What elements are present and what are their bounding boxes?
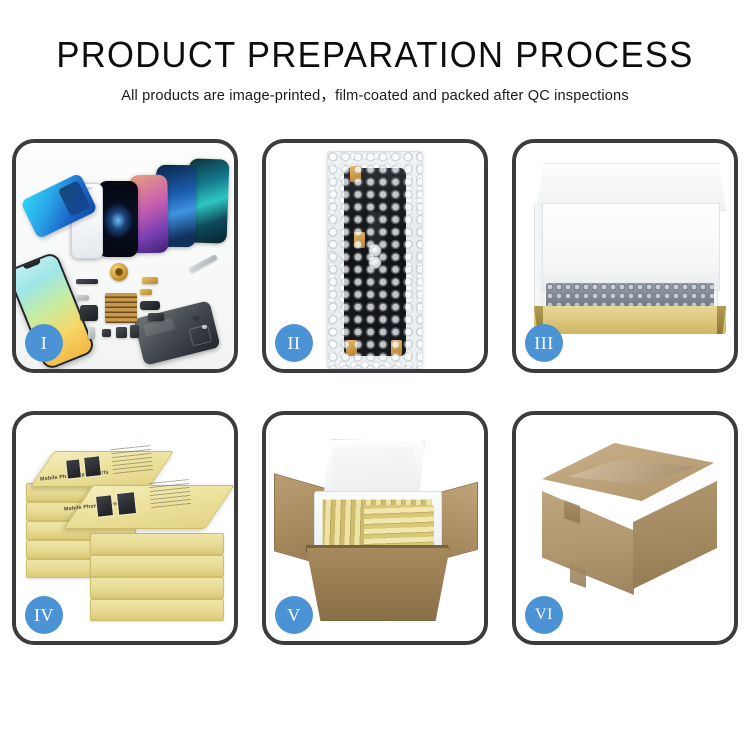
- step-badge-3: III: [525, 324, 563, 362]
- step-badge-1: I: [25, 324, 63, 362]
- process-step-panel-3[interactable]: III Bubble-wrapped units placed inside a…: [512, 139, 738, 373]
- process-step-grid: I Mobile phone screens, back glass and a…: [12, 139, 738, 685]
- part-strip-icon: [76, 279, 98, 284]
- step-badge-5: V: [275, 596, 313, 634]
- carton-body-icon: [306, 547, 450, 621]
- screen-flex-cable-icon: [369, 212, 382, 336]
- tape-tab-mid-icon: [354, 232, 365, 248]
- yellow-boxes-row-2-icon: [364, 505, 434, 549]
- camera-module-icon: [116, 327, 127, 338]
- page-title: PRODUCT PREPARATION PROCESS: [15, 36, 735, 75]
- screw-icon: [192, 315, 199, 319]
- retail-box-edge: [90, 577, 224, 599]
- process-step-panel-4[interactable]: Mobile Phone Spare Parts Mobile Phone Sp…: [12, 411, 238, 645]
- box-window-right-icon: [83, 455, 102, 478]
- bracket-icon: [75, 295, 89, 300]
- vibrator-motor-icon: [130, 325, 139, 338]
- process-step-panel-2[interactable]: II Individual LCD screen assembly sealed…: [262, 139, 488, 373]
- flex-cable-icon: [80, 305, 98, 321]
- product-preparation-process-page: PRODUCT PREPARATION PROCESS All products…: [0, 0, 750, 750]
- process-step-panel-6[interactable]: VI Sealed and taped outer cardboard ship…: [512, 411, 738, 645]
- process-step-panel-5[interactable]: V Yellow boxes loaded into a foam-lined …: [262, 411, 488, 645]
- box-window-right-icon: [116, 491, 137, 516]
- box-spec-lines-icon: [149, 479, 191, 509]
- bubble-wrap-bag-icon: [327, 151, 423, 369]
- tape-tab-bottom-right-icon: [391, 340, 402, 356]
- box-window-left-icon: [95, 494, 114, 518]
- tape-tab-bottom-left-icon: [346, 340, 357, 356]
- box-window-left-icon: [65, 458, 82, 479]
- ic-chip-icon: [148, 313, 164, 321]
- step-badge-6: VI: [525, 596, 563, 634]
- ribbon-cable-icon: [140, 301, 160, 310]
- gold-connector-icon: [142, 277, 158, 284]
- speaker-coil-icon: [110, 263, 128, 281]
- sim-tray-icon: [88, 327, 95, 339]
- step-badge-4: IV: [25, 596, 63, 634]
- retail-box-edge: [90, 533, 224, 555]
- retail-box-edge: [90, 555, 224, 577]
- tape-tab-top-icon: [350, 166, 361, 182]
- step-badge-2: II: [275, 324, 313, 362]
- button-part-icon: [102, 329, 111, 337]
- retail-box-edge: [90, 599, 224, 621]
- box-front-yellow-icon: [534, 306, 726, 334]
- page-subtitle: All products are image-printed，film-coat…: [0, 84, 750, 105]
- copper-mesh-chip-icon: [105, 293, 137, 323]
- box-spec-lines-icon: [111, 445, 153, 475]
- gold-pad-icon: [140, 289, 152, 295]
- phone-dark-screen-icon: [98, 181, 138, 257]
- box-inner-white-icon: [542, 203, 720, 291]
- connector-round-2-icon: [369, 256, 382, 269]
- process-step-panel-1[interactable]: I Mobile phone screens, back glass and a…: [12, 139, 238, 373]
- header: PRODUCT PREPARATION PROCESS All products…: [0, 36, 750, 105]
- screw-small-icon: [202, 325, 207, 329]
